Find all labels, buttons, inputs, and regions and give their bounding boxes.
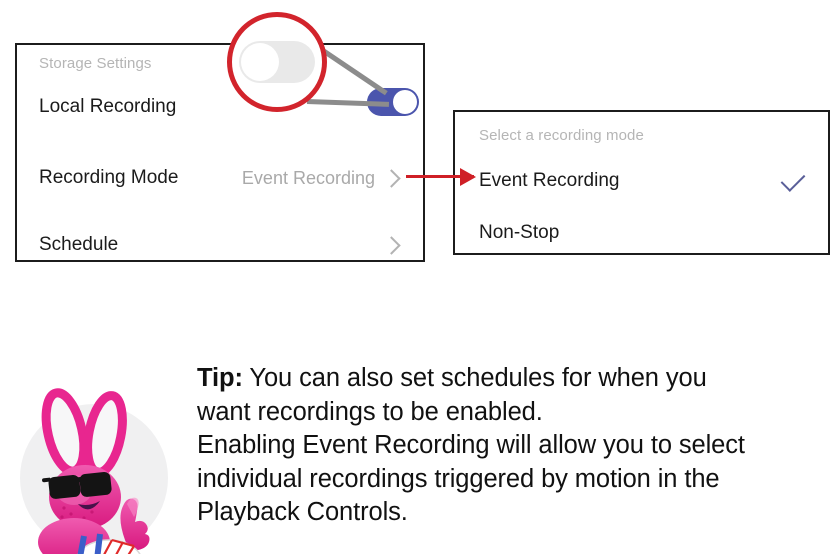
option-event-recording-label: Event Recording <box>479 170 619 192</box>
tip-line-4: individual recordings triggered by motio… <box>197 463 837 497</box>
tip-line-2: want recordings to be enabled. <box>197 396 837 430</box>
chevron-right-icon <box>382 169 400 187</box>
toggle-knob <box>241 43 279 81</box>
energizer-bunny-mascot <box>12 390 176 554</box>
list-item-recording-mode[interactable]: Recording Mode Event Recording <box>17 158 423 198</box>
storage-settings-header: Storage Settings <box>39 55 152 72</box>
magnified-toggle-off <box>239 41 315 83</box>
option-event-recording[interactable]: Event Recording <box>455 161 828 201</box>
option-non-stop[interactable]: Non-Stop <box>455 213 828 253</box>
tip-prefix: Tip: <box>197 364 243 392</box>
magnifier-callout-circle <box>227 12 327 112</box>
schedule-label: Schedule <box>39 234 118 256</box>
toggle-knob <box>393 90 417 114</box>
local-recording-label: Local Recording <box>39 96 176 118</box>
red-pointer-arrow <box>406 175 474 178</box>
recording-mode-value: Event Recording <box>242 168 375 189</box>
checkmark-icon <box>781 167 806 192</box>
list-item-schedule[interactable]: Schedule <box>17 225 423 265</box>
tip-line-1-text: You can also set schedules for when you <box>243 364 707 392</box>
select-recording-mode-header: Select a recording mode <box>479 127 644 144</box>
tip-line-1: Tip: You can also set schedules for when… <box>197 362 837 396</box>
recording-mode-selector-panel: Select a recording mode Event Recording … <box>453 110 830 255</box>
option-non-stop-label: Non-Stop <box>479 222 559 244</box>
tip-text-block: Tip: You can also set schedules for when… <box>197 362 837 530</box>
tip-line-3: Enabling Event Recording will allow you … <box>197 429 837 463</box>
list-item-local-recording[interactable]: Local Recording <box>17 87 423 127</box>
tip-line-5: Playback Controls. <box>197 496 837 530</box>
chevron-right-icon <box>382 236 400 254</box>
recording-mode-label: Recording Mode <box>39 167 178 189</box>
